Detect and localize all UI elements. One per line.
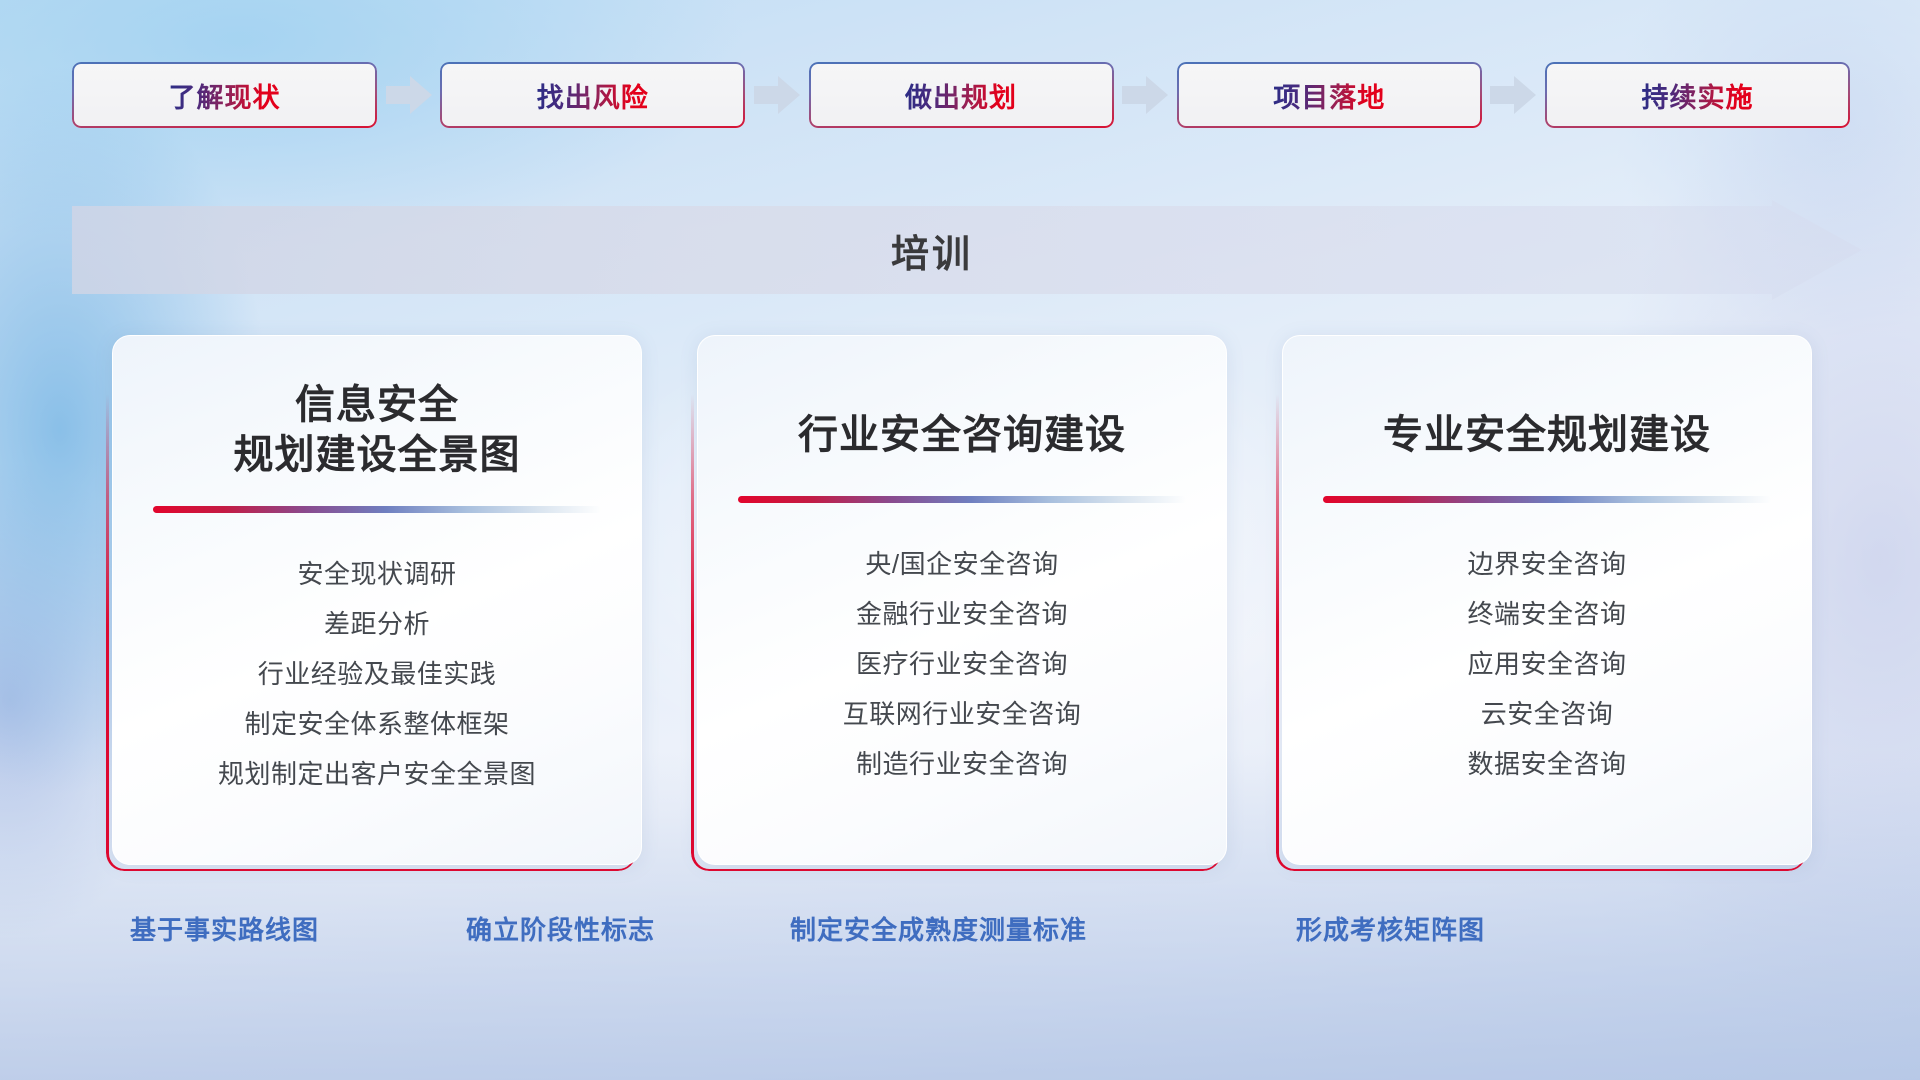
card-2[interactable]: 行业安全咨询建设 央/国企安全咨询 金融行业安全咨询 医疗行业安全咨询 互联网行… — [697, 335, 1227, 865]
card-title-line-1: 行业安全咨询建设 — [798, 410, 1126, 460]
chevron-right-arrow-icon — [386, 76, 432, 114]
list-item: 边界安全咨询 — [1467, 539, 1626, 589]
step-item-4[interactable]: 项目落地 — [1177, 62, 1482, 128]
list-item: 央/国企安全咨询 — [865, 539, 1058, 589]
card-3[interactable]: 专业安全规划建设 边界安全咨询 终端安全咨询 应用安全咨询 云安全咨询 数据安全… — [1282, 335, 1812, 865]
list-item: 金融行业安全咨询 — [856, 589, 1068, 639]
card-title-line-1: 专业安全规划建设 — [1383, 410, 1711, 460]
process-step-flow: 了解现状 找出风险 做出规划 项目落地 持续实施 — [72, 62, 1850, 128]
banner-title: 培训 — [72, 200, 1792, 300]
step-item-3[interactable]: 做出规划 — [809, 62, 1114, 128]
list-item: 应用安全咨询 — [1467, 639, 1626, 689]
list-item: 制定安全体系整体框架 — [244, 699, 509, 749]
step-label: 持续实施 — [1642, 76, 1754, 115]
step-item-5[interactable]: 持续实施 — [1545, 62, 1850, 128]
footer-label-row: 基于事实路线图 确立阶段性标志 制定安全成熟度测量标准 形成考核矩阵图 — [0, 910, 1920, 960]
card-row: 信息安全 规划建设全景图 安全现状调研 差距分析 行业经验及最佳实践 制定安全体… — [112, 335, 1812, 865]
step-label: 做出规划 — [905, 76, 1017, 115]
card-divider — [738, 496, 1186, 503]
chevron-right-arrow-icon — [754, 76, 800, 114]
card-title-line-2: 规划建设全景图 — [234, 430, 521, 480]
card-item-list: 安全现状调研 差距分析 行业经验及最佳实践 制定安全体系整体框架 规划制定出客户… — [218, 549, 536, 799]
footer-label-2: 确立阶段性标志 — [466, 910, 655, 947]
card-item-list: 央/国企安全咨询 金融行业安全咨询 医疗行业安全咨询 互联网行业安全咨询 制造行… — [843, 539, 1082, 789]
list-item: 云安全咨询 — [1481, 689, 1614, 739]
card-1[interactable]: 信息安全 规划建设全景图 安全现状调研 差距分析 行业经验及最佳实践 制定安全体… — [112, 335, 642, 865]
list-item: 安全现状调研 — [297, 549, 456, 599]
card-title: 专业安全规划建设 — [1383, 410, 1711, 460]
step-label: 了解现状 — [169, 76, 281, 115]
step-label: 找出风险 — [537, 76, 649, 115]
card-title: 行业安全咨询建设 — [798, 410, 1126, 460]
footer-label-1: 基于事实路线图 — [130, 910, 319, 947]
list-item: 互联网行业安全咨询 — [843, 689, 1082, 739]
list-item: 数据安全咨询 — [1467, 739, 1626, 789]
list-item: 制造行业安全咨询 — [856, 739, 1068, 789]
step-label: 项目落地 — [1273, 76, 1385, 115]
training-banner: 培训 — [72, 200, 1862, 300]
list-item: 规划制定出客户安全全景图 — [218, 749, 536, 799]
list-item: 医疗行业安全咨询 — [856, 639, 1068, 689]
footer-label-4: 形成考核矩阵图 — [1296, 910, 1485, 947]
card-divider — [153, 506, 601, 513]
list-item: 终端安全咨询 — [1467, 589, 1626, 639]
list-item: 行业经验及最佳实践 — [258, 649, 497, 699]
card-title-line-1: 信息安全 — [234, 380, 521, 430]
chevron-right-arrow-icon — [1122, 76, 1168, 114]
chevron-right-arrow-icon — [1490, 76, 1536, 114]
footer-label-3: 制定安全成熟度测量标准 — [790, 910, 1087, 947]
step-item-2[interactable]: 找出风险 — [440, 62, 745, 128]
card-title: 信息安全 规划建设全景图 — [234, 380, 521, 480]
card-divider — [1323, 496, 1771, 503]
step-item-1[interactable]: 了解现状 — [72, 62, 377, 128]
list-item: 差距分析 — [324, 599, 430, 649]
card-item-list: 边界安全咨询 终端安全咨询 应用安全咨询 云安全咨询 数据安全咨询 — [1467, 539, 1626, 789]
